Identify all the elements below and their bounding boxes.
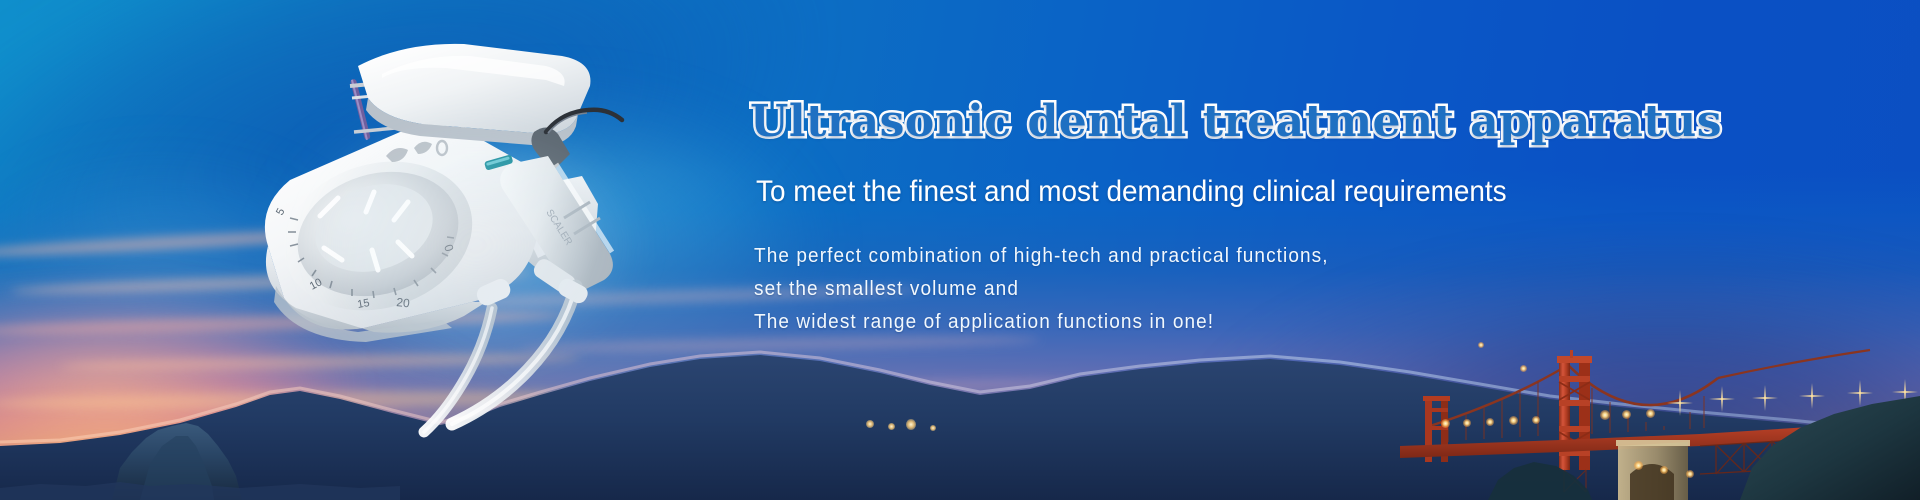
- ultrasonic-dental-scaler: 5 10 15 20 0: [246, 40, 726, 460]
- description-text: The perfect combination of high-tech and…: [754, 240, 1605, 339]
- banner-copy: Ultrasonic dental treatment apparatus To…: [750, 96, 1650, 339]
- description-line-3: The widest range of application function…: [754, 306, 1605, 339]
- description-line-1: The perfect combination of high-tech and…: [754, 240, 1605, 273]
- promo-banner: 5 10 15 20 0: [0, 0, 1920, 500]
- subtitle: To meet the finest and most demanding cl…: [756, 174, 1587, 210]
- product-glow: [256, 80, 696, 410]
- foreground-rock-midright: [1488, 462, 1592, 500]
- description-line-2: set the smallest volume and: [754, 273, 1605, 306]
- foreground-cliff-path: [1740, 396, 1920, 500]
- page-title: Ultrasonic dental treatment apparatus: [750, 96, 1650, 148]
